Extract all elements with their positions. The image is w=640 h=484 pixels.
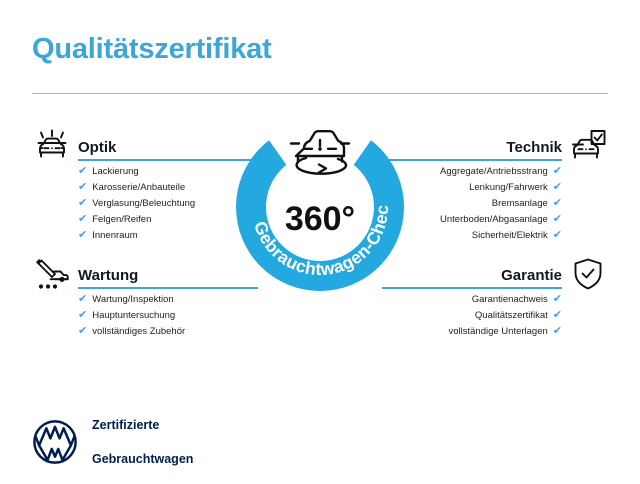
check-icon: ✔ [553, 166, 562, 177]
list-item-label: vollständige Unterlagen [448, 327, 547, 337]
list-item-label: Verglasung/Beleuchtung [92, 199, 195, 209]
garantie-item-list: ✔Garantienachweis ✔Qualitätszertifikat ✔… [400, 292, 608, 340]
footer-line-2: Gebrauchtwagen [92, 451, 193, 468]
list-item-label: Lackierung [92, 167, 138, 177]
car-front-rotate-icon [278, 111, 362, 183]
check-icon: ✔ [78, 182, 87, 193]
list-item-label: Innenraum [92, 231, 137, 241]
check-icon: ✔ [78, 214, 87, 225]
list-item-label: Aggregate/Antriebsstrang [440, 167, 548, 177]
list-item-label: Felgen/Reifen [92, 215, 151, 225]
check-icon: ✔ [553, 310, 562, 321]
section-wartung: Wartung ✔Wartung/Inspektion ✔Hauptunters… [32, 258, 240, 340]
page-title: Qualitätszertifikat [32, 33, 272, 66]
list-item: ✔Aggregate/Antriebsstrang [400, 164, 562, 180]
check-icon: ✔ [78, 310, 87, 321]
check-icon: ✔ [78, 294, 87, 305]
certificate-page: Qualitätszertifikat Optik ✔Lackierung ✔K… [0, 0, 640, 480]
list-item: ✔Garantienachweis [400, 292, 562, 308]
check-icon: ✔ [78, 230, 87, 241]
list-item: ✔Bremsanlage [400, 196, 562, 212]
section-title: Optik [78, 139, 116, 156]
check-icon: ✔ [553, 214, 562, 225]
list-item-label: Hauptuntersuchung [92, 311, 175, 321]
list-item: ✔Unterboden/Abgasanlage [400, 212, 562, 228]
section-technik: Technik ✔Aggregate/Antriebsstrang ✔Lenku… [400, 130, 608, 244]
list-item-label: Garantienachweis [472, 295, 548, 305]
section-title: Technik [506, 139, 562, 156]
volkswagen-logo [32, 419, 78, 465]
list-item: ✔Karosserie/Anbauteile [78, 180, 240, 196]
check-icon: ✔ [78, 198, 87, 209]
gebrauchtwagen-check-badge: Gebrauchtwagen-Check 360° [228, 115, 412, 299]
technik-item-list: ✔Aggregate/Antriebsstrang ✔Lenkung/Fahrw… [400, 164, 608, 244]
section-title: Wartung [78, 267, 138, 284]
footer-text: Zertifizierte Gebrauchtwagen [92, 400, 193, 484]
list-item-label: Lenkung/Fahrwerk [469, 183, 548, 193]
list-item: ✔vollständiges Zubehör [78, 324, 240, 340]
section-optik: Optik ✔Lackierung ✔Karosserie/Anbauteile… [32, 130, 240, 244]
footer-brand: Zertifizierte Gebrauchtwagen [32, 400, 193, 484]
list-item-label: Bremsanlage [492, 199, 548, 209]
list-item: ✔Lackierung [78, 164, 240, 180]
footer-line-1: Zertifizierte [92, 417, 193, 434]
list-item-label: Sicherheit/Elektrik [472, 231, 548, 241]
list-item: ✔Felgen/Reifen [78, 212, 240, 228]
check-icon: ✔ [78, 166, 87, 177]
section-title: Garantie [501, 267, 562, 284]
list-item: ✔Verglasung/Beleuchtung [78, 196, 240, 212]
list-item: ✔Lenkung/Fahrwerk [400, 180, 562, 196]
list-item: ✔Hauptuntersuchung [78, 308, 240, 324]
check-icon: ✔ [553, 326, 562, 337]
list-item-label: Wartung/Inspektion [92, 295, 174, 305]
check-icon: ✔ [553, 182, 562, 193]
optik-item-list: ✔Lackierung ✔Karosserie/Anbauteile ✔Verg… [32, 164, 240, 244]
list-item-label: Karosserie/Anbauteile [92, 183, 185, 193]
section-garantie: Garantie ✔Garantienachweis ✔Qualitätszer… [400, 258, 608, 340]
wartung-item-list: ✔Wartung/Inspektion ✔Hauptuntersuchung ✔… [32, 292, 240, 340]
list-item: ✔vollständige Unterlagen [400, 324, 562, 340]
list-item-label: Qualitätszertifikat [475, 311, 548, 321]
check-icon: ✔ [78, 326, 87, 337]
check-icon: ✔ [553, 294, 562, 305]
check-icon: ✔ [553, 198, 562, 209]
check-icon: ✔ [553, 230, 562, 241]
list-item-label: Unterboden/Abgasanlage [440, 215, 548, 225]
list-item: ✔Qualitätszertifikat [400, 308, 562, 324]
list-item: ✔Wartung/Inspektion [78, 292, 240, 308]
list-item-label: vollständiges Zubehör [92, 327, 185, 337]
list-item: ✔Innenraum [78, 228, 240, 244]
title-divider [32, 93, 608, 94]
list-item: ✔Sicherheit/Elektrik [400, 228, 562, 244]
